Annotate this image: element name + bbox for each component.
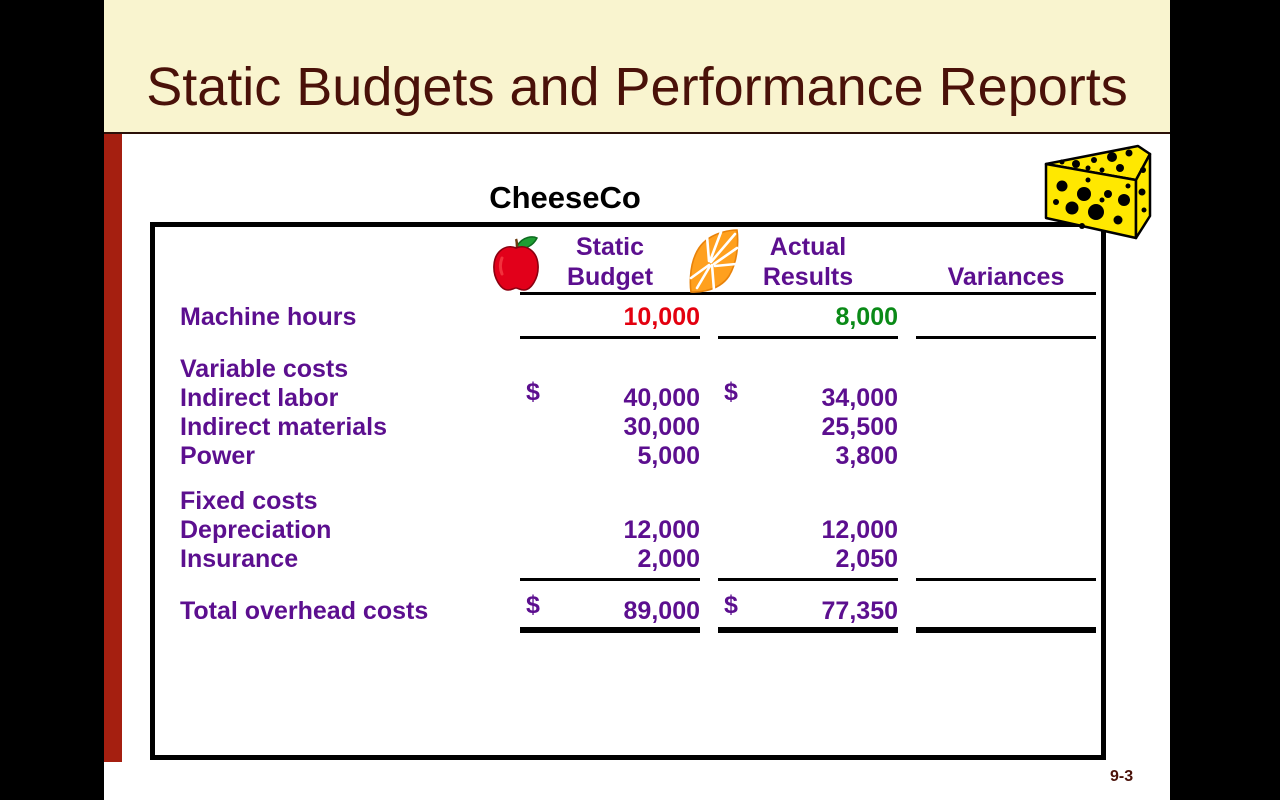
cell-gap bbox=[700, 487, 718, 516]
apple-icon bbox=[487, 232, 545, 294]
cell-insurance-actual: 2,050 bbox=[718, 545, 898, 574]
table-row: Total overhead costs $89,000 $77,350 bbox=[180, 597, 1096, 626]
table-row: Power 5,000 3,800 bbox=[180, 442, 1096, 471]
slide-root: Static Budgets and Performance Reports C… bbox=[0, 0, 1280, 800]
row-label-indirect-materials: Indirect materials bbox=[180, 413, 520, 442]
currency-symbol: $ bbox=[724, 591, 738, 620]
double-underline-budget bbox=[520, 626, 700, 632]
cell-gap bbox=[700, 355, 718, 384]
cell-fixed-costs-budget bbox=[520, 487, 700, 516]
spacer-row bbox=[180, 338, 1096, 356]
currency-symbol: $ bbox=[526, 378, 540, 407]
row-label-indirect-labor: Indirect labor bbox=[180, 384, 520, 413]
cell-power-budget: 5,000 bbox=[520, 442, 700, 471]
header-label-blank-2 bbox=[180, 262, 520, 294]
cell-variable-costs-variance bbox=[916, 355, 1096, 384]
header-label-blank bbox=[180, 232, 520, 262]
currency-symbol: $ bbox=[526, 591, 540, 620]
cheese-wedge-icon bbox=[1032, 140, 1156, 258]
cell-power-variance bbox=[916, 442, 1096, 471]
row-label-fixed-costs: Fixed costs bbox=[180, 487, 520, 516]
cell-gap bbox=[898, 442, 916, 471]
cell-gap bbox=[700, 516, 718, 545]
rule-row-total bbox=[180, 626, 1096, 632]
header-gap-4 bbox=[898, 262, 916, 294]
row-label-variable-costs: Variable costs bbox=[180, 355, 520, 384]
row-label-insurance: Insurance bbox=[180, 545, 520, 574]
double-underline-variance bbox=[916, 626, 1096, 632]
cell-machine-hours-variance bbox=[916, 303, 1096, 332]
cell-indirect-labor-actual: $34,000 bbox=[718, 384, 898, 413]
value: 34,000 bbox=[822, 384, 898, 412]
cell-fixed-costs-variance bbox=[916, 487, 1096, 516]
row-label-power: Power bbox=[180, 442, 520, 471]
cell-power-actual: 3,800 bbox=[718, 442, 898, 471]
cell-total-variance bbox=[916, 597, 1096, 626]
header-static-budget-line1: Static bbox=[520, 232, 700, 262]
cell-gap bbox=[898, 597, 916, 626]
cell-indirect-materials-actual: 25,500 bbox=[718, 413, 898, 442]
cell-gap bbox=[898, 413, 916, 442]
value: 89,000 bbox=[624, 597, 700, 625]
cell-variable-costs-actual bbox=[718, 355, 898, 384]
currency-symbol: $ bbox=[724, 378, 738, 407]
cell-machine-hours-actual: 8,000 bbox=[718, 303, 898, 332]
cell-gap bbox=[898, 516, 916, 545]
table-row: Machine hours 10,000 8,000 bbox=[180, 303, 1096, 332]
cell-total-budget: $89,000 bbox=[520, 597, 700, 626]
table-header-row-1: Static Actual bbox=[180, 232, 1096, 262]
performance-report-table: Static Actual Budget Results Variances M… bbox=[150, 222, 1106, 760]
header-static-budget-line2: Budget bbox=[520, 262, 700, 294]
table-row: Fixed costs bbox=[180, 487, 1096, 516]
table-header-row-2: Budget Results Variances bbox=[180, 262, 1096, 294]
company-name: CheeseCo bbox=[150, 180, 980, 216]
cell-machine-hours-budget: 10,000 bbox=[520, 303, 700, 332]
cell-gap bbox=[898, 545, 916, 574]
spacer-row bbox=[180, 471, 1096, 487]
page-title: Static Budgets and Performance Reports bbox=[104, 56, 1170, 118]
slide-number: 9-3 bbox=[1110, 768, 1133, 786]
spacer-row bbox=[180, 580, 1096, 598]
header-variances: Variances bbox=[916, 262, 1096, 294]
cell-indirect-materials-variance bbox=[916, 413, 1096, 442]
title-band: Static Budgets and Performance Reports bbox=[104, 0, 1170, 134]
accent-bar bbox=[104, 134, 122, 762]
table-row: Variable costs bbox=[180, 355, 1096, 384]
cell-insurance-budget: 2,000 bbox=[520, 545, 700, 574]
row-label-total-overhead-costs: Total overhead costs bbox=[180, 597, 520, 626]
double-underline-actual bbox=[718, 626, 898, 632]
cell-gap bbox=[898, 303, 916, 332]
cell-gap bbox=[700, 545, 718, 574]
row-label-depreciation: Depreciation bbox=[180, 516, 520, 545]
cell-gap bbox=[700, 597, 718, 626]
table-row: Indirect labor $40,000 $34,000 bbox=[180, 384, 1096, 413]
spacer-row bbox=[180, 294, 1096, 304]
value: 40,000 bbox=[624, 384, 700, 412]
table-row: Depreciation 12,000 12,000 bbox=[180, 516, 1096, 545]
cell-indirect-materials-budget: 30,000 bbox=[520, 413, 700, 442]
cell-gap bbox=[700, 384, 718, 413]
table-row: Insurance 2,000 2,050 bbox=[180, 545, 1096, 574]
header-gap-2 bbox=[898, 232, 916, 262]
cell-depreciation-actual: 12,000 bbox=[718, 516, 898, 545]
orange-slice-icon bbox=[681, 226, 747, 298]
cell-gap bbox=[700, 303, 718, 332]
cell-gap bbox=[700, 413, 718, 442]
cell-total-actual: $77,350 bbox=[718, 597, 898, 626]
cell-gap bbox=[700, 442, 718, 471]
cell-depreciation-budget: 12,000 bbox=[520, 516, 700, 545]
cell-gap bbox=[898, 384, 916, 413]
cell-gap bbox=[898, 487, 916, 516]
value: 77,350 bbox=[822, 597, 898, 625]
cell-indirect-labor-budget: $40,000 bbox=[520, 384, 700, 413]
cell-variable-costs-budget bbox=[520, 355, 700, 384]
cell-indirect-labor-variance bbox=[916, 384, 1096, 413]
cell-gap bbox=[898, 355, 916, 384]
table-row: Indirect materials 30,000 25,500 bbox=[180, 413, 1096, 442]
cell-depreciation-variance bbox=[916, 516, 1096, 545]
cell-fixed-costs-actual bbox=[718, 487, 898, 516]
row-label-machine-hours: Machine hours bbox=[180, 303, 520, 332]
cell-insurance-variance bbox=[916, 545, 1096, 574]
